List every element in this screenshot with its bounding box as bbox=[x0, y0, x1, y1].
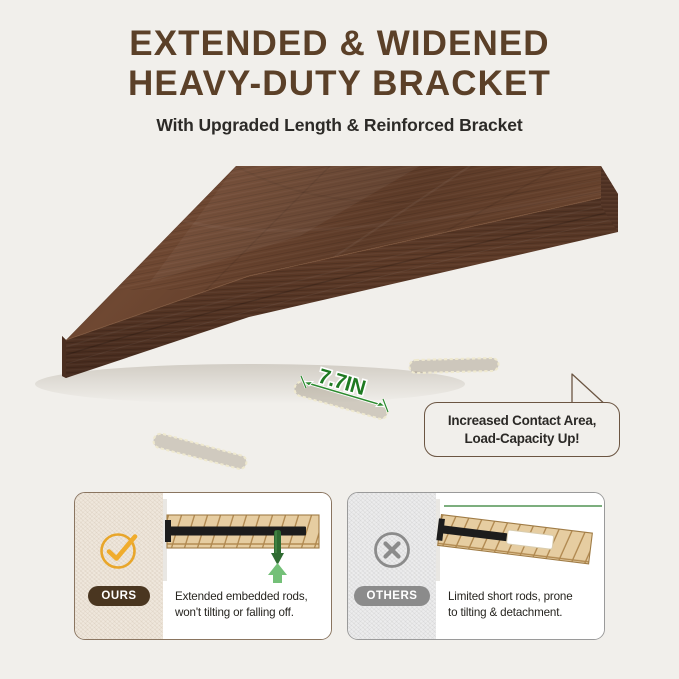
ours-caption-line-1: Extended embedded rods, bbox=[175, 589, 319, 605]
others-caption-line-1: Limited short rods, prone bbox=[448, 589, 592, 605]
others-shelf-tilted bbox=[436, 514, 592, 564]
comparison-card-others: OTHERS bbox=[347, 492, 605, 640]
ours-rod bbox=[169, 527, 306, 536]
ours-caption: Extended embedded rods, won't tilting or… bbox=[163, 589, 331, 620]
bracket-outline-left bbox=[154, 434, 247, 469]
comparison-cards: OURS bbox=[0, 492, 679, 642]
ours-up-arrow-icon bbox=[268, 563, 287, 583]
x-circle-icon bbox=[369, 527, 415, 573]
check-circle-icon bbox=[96, 527, 142, 573]
ours-diagram-panel: Extended embedded rods, won't tilting or… bbox=[163, 493, 331, 639]
shelf-end-sliver bbox=[62, 336, 66, 378]
title-line-2: HEAVY-DUTY BRACKET bbox=[128, 64, 551, 103]
page-title: EXTENDED & WIDENED HEAVY-DUTY BRACKET bbox=[0, 24, 679, 104]
header-block: EXTENDED & WIDENED HEAVY-DUTY BRACKET Wi… bbox=[0, 24, 679, 136]
callout-line-2: Load-Capacity Up! bbox=[465, 430, 580, 448]
others-caption-line-2: to tilting & detachment. bbox=[448, 605, 592, 621]
callout-bubble: Increased Contact Area, Load-Capacity Up… bbox=[424, 402, 620, 457]
callout-line-1: Increased Contact Area, bbox=[448, 412, 596, 430]
others-badge: OTHERS bbox=[354, 586, 431, 606]
others-diagram-panel: Limited short rods, prone to tilting & d… bbox=[436, 493, 604, 639]
shelf-shadow bbox=[35, 364, 465, 404]
bracket-outline-right bbox=[410, 358, 499, 373]
others-badge-panel: OTHERS bbox=[348, 493, 436, 639]
others-cross-section-diagram bbox=[436, 493, 605, 589]
ours-badge-panel: OURS bbox=[75, 493, 163, 639]
ours-badge: OURS bbox=[88, 586, 149, 606]
ours-cross-section-diagram bbox=[163, 493, 332, 589]
product-infographic: EXTENDED & WIDENED HEAVY-DUTY BRACKET Wi… bbox=[0, 0, 679, 679]
page-subtitle: With Upgraded Length & Reinforced Bracke… bbox=[0, 115, 679, 136]
others-caption: Limited short rods, prone to tilting & d… bbox=[436, 589, 604, 620]
title-line-1: EXTENDED & WIDENED bbox=[129, 24, 549, 63]
comparison-card-ours: OURS bbox=[74, 492, 332, 640]
ours-caption-line-2: won't tilting or falling off. bbox=[175, 605, 319, 621]
